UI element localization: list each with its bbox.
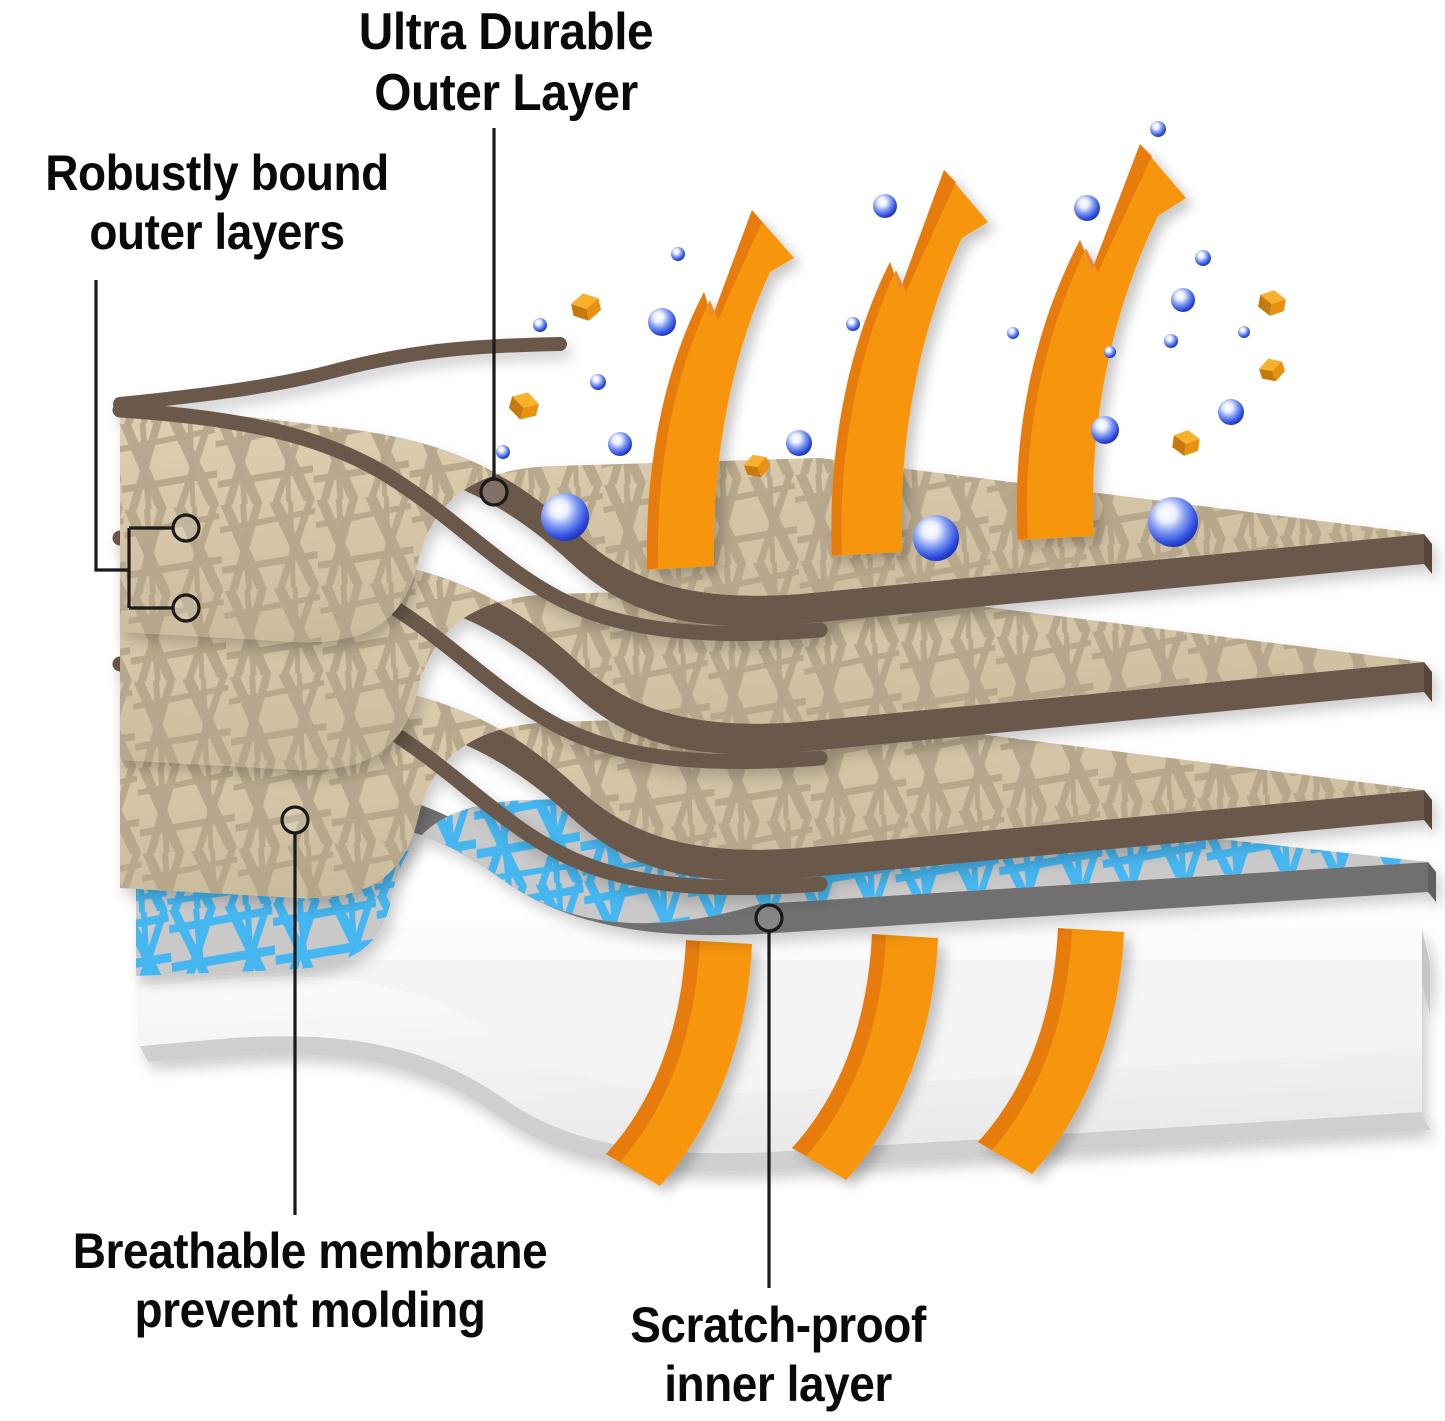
bubble [1007, 327, 1019, 339]
layer-scratch-proof-inner [140, 930, 1430, 1171]
cube [507, 389, 542, 424]
cube [1171, 428, 1200, 457]
leader-marker-dot [481, 479, 507, 505]
bubble [1150, 121, 1166, 137]
cube [1257, 288, 1287, 318]
bubble [1104, 346, 1116, 358]
bubble [1164, 334, 1178, 348]
bubble [1091, 416, 1119, 444]
label-breathable-membrane: Breathable membrane prevent molding [25, 1222, 595, 1340]
leader-marker-dot [282, 807, 308, 833]
bubble [1195, 250, 1211, 266]
label-robustly-bound-outer-layers: Robustly bound outer layers [19, 144, 415, 262]
leader-marker-dot [173, 515, 199, 541]
bubble [1148, 497, 1198, 547]
bubble [913, 515, 959, 561]
bubble [496, 445, 510, 459]
bubble [533, 318, 547, 332]
bubble [873, 194, 897, 218]
bubble [1074, 195, 1100, 221]
outer2-right-edge [1424, 662, 1432, 702]
leader-marker-dot [756, 905, 782, 931]
bubble [1218, 399, 1244, 425]
label-scratch-proof-inner-layer: Scratch-proof inner layer [603, 1296, 953, 1414]
bubble [590, 374, 606, 390]
bubble [648, 308, 676, 336]
arrow-up-3 [1017, 144, 1186, 540]
bubble [846, 317, 860, 331]
outer1-right-edge [1424, 534, 1432, 574]
membrane-right-edge [1428, 862, 1436, 902]
outer3-right-edge [1424, 790, 1432, 830]
leader-marker-dot [173, 595, 199, 621]
bubble [671, 247, 685, 261]
layer-outer-1-ultra-durable [120, 344, 1432, 642]
bubble [608, 432, 632, 456]
bubble [786, 430, 812, 456]
bubble [1238, 326, 1250, 338]
label-ultra-durable-outer-layer: Ultra Durable Outer Layer [313, 2, 699, 125]
inner-layer-right-edge [1422, 930, 1430, 1014]
bubble [541, 493, 589, 541]
cube [1257, 355, 1287, 385]
cube [569, 290, 602, 323]
bubble [1171, 288, 1195, 312]
